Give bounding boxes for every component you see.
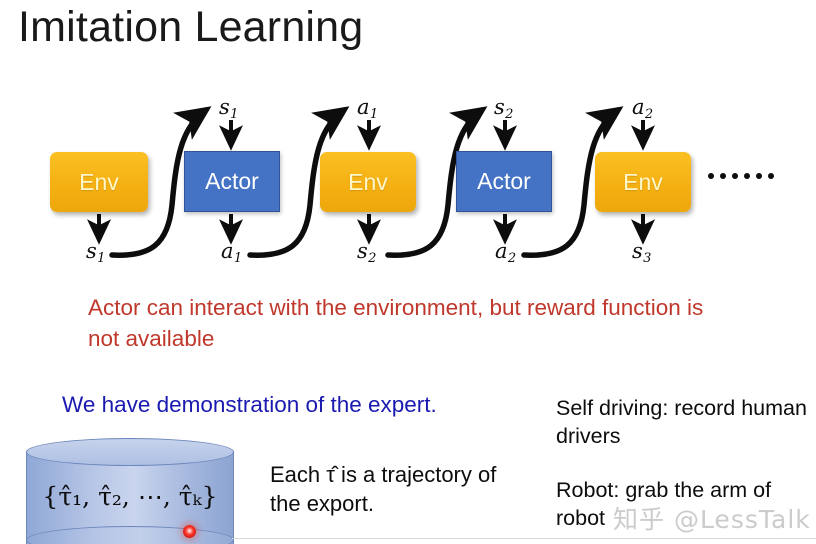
slide-canvas: Imitation Learning bbox=[0, 0, 816, 544]
dataset-cylinder: {τ̂₁, τ̂₂, ⋯, τ̂ₖ} bbox=[26, 438, 234, 544]
trajectory-note: Each τ̂ is a trajectory of the export. bbox=[270, 460, 530, 518]
page-title: Imitation Learning bbox=[18, 2, 363, 54]
diagram-node-env-3[interactable]: Env bbox=[595, 152, 691, 212]
diagram-bottom-label-s3: s3 bbox=[632, 241, 651, 265]
diagram-top-label-s2: s2 bbox=[494, 97, 513, 121]
node-label: Env bbox=[348, 171, 388, 194]
node-label: Env bbox=[79, 171, 119, 194]
node-label: Actor bbox=[477, 170, 531, 193]
laser-pointer-dot-icon bbox=[183, 525, 196, 538]
continuation-ellipsis-icon bbox=[708, 173, 774, 179]
dataset-label: {τ̂₁, τ̂₂, ⋯, τ̂ₖ} bbox=[26, 482, 234, 511]
blue-annotation: We have demonstration of the expert. bbox=[62, 390, 437, 419]
cylinder-top-ellipse bbox=[26, 438, 234, 466]
diagram-bottom-label-a1: a1 bbox=[221, 241, 242, 265]
diagram-top-label-s1: s1 bbox=[219, 97, 238, 121]
diagram-top-label-a1: a1 bbox=[357, 97, 378, 121]
diagram-bottom-label-s2: s2 bbox=[357, 241, 376, 265]
diagram-bottom-label-s1: s1 bbox=[86, 241, 105, 265]
diagram-bottom-label-a2: a2 bbox=[495, 241, 516, 265]
red-annotation: Actor can interact with the environment,… bbox=[88, 292, 728, 354]
bottom-divider bbox=[232, 538, 816, 539]
diagram-top-label-a2: a2 bbox=[632, 97, 653, 121]
diagram-node-env-1[interactable]: Env bbox=[50, 152, 148, 212]
example-note-self-driving: Self driving: record human drivers bbox=[556, 395, 812, 451]
node-label: Actor bbox=[205, 170, 259, 193]
node-label: Env bbox=[623, 171, 663, 194]
diagram-node-env-2[interactable]: Env bbox=[320, 152, 416, 212]
diagram-node-actor-2[interactable]: Actor bbox=[456, 151, 552, 212]
watermark: 知乎 @LessTalk bbox=[613, 500, 811, 536]
diagram-node-actor-1[interactable]: Actor bbox=[184, 151, 280, 212]
